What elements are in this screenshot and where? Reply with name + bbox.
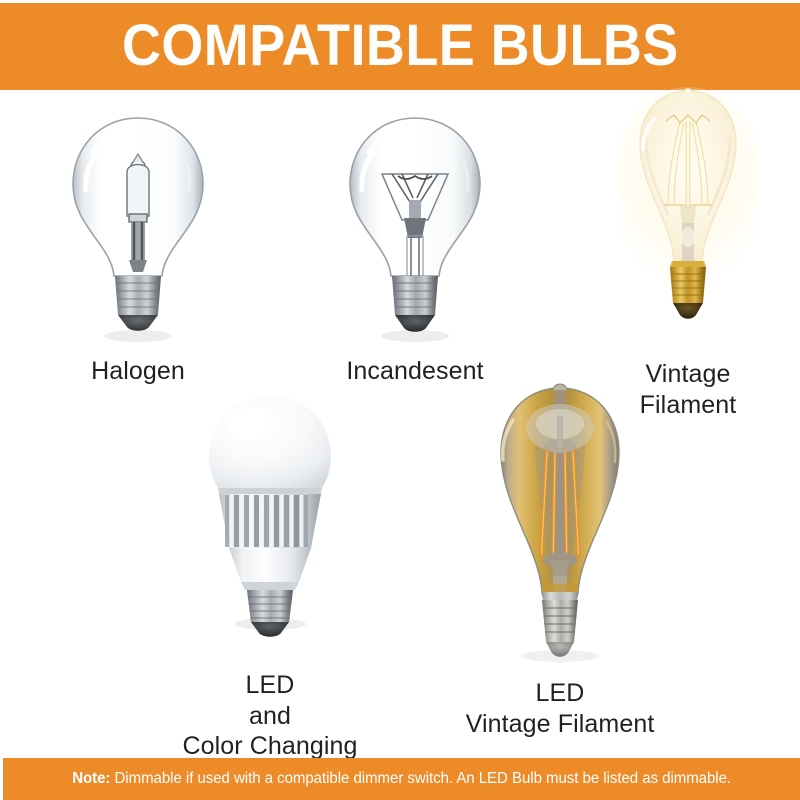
bulb-grid: Halogen [0, 90, 800, 758]
page-title: COMPATIBLE BULBS [122, 17, 679, 75]
bulb-item-halogen: Halogen [28, 110, 248, 387]
bulb-label-led-color-changing: LED and Color Changing [182, 670, 357, 762]
bulb-label-led-vintage-filament: LED Vintage Filament [466, 678, 655, 739]
footer-note-bar: Note: Dimmable if used with a compatible… [3, 758, 800, 800]
led-bulb-icon [195, 390, 345, 640]
vintage-filament-bulb-icon [618, 85, 758, 355]
footer-note-label: Note: [72, 770, 110, 787]
bulb-item-incandescent: Incandesent [305, 110, 525, 387]
led-vintage-filament-bulb-icon [473, 380, 648, 670]
bulb-item-led-vintage-filament: LED Vintage Filament [420, 380, 700, 739]
footer-note-body: Dimmable if used with a compatible dimme… [110, 770, 731, 787]
halogen-bulb-icon [63, 110, 213, 350]
bulb-item-led-color-changing: LED and Color Changing [140, 390, 400, 762]
incandescent-bulb-icon [340, 110, 490, 350]
header-banner: COMPATIBLE BULBS [0, 3, 800, 90]
footer-note-text: Note: Dimmable if used with a compatible… [72, 770, 731, 788]
bulb-label-halogen: Halogen [91, 356, 185, 387]
bulb-item-vintage-filament: Vintage Filament [578, 85, 798, 420]
infographic-page: COMPATIBLE BULBS [0, 0, 800, 800]
